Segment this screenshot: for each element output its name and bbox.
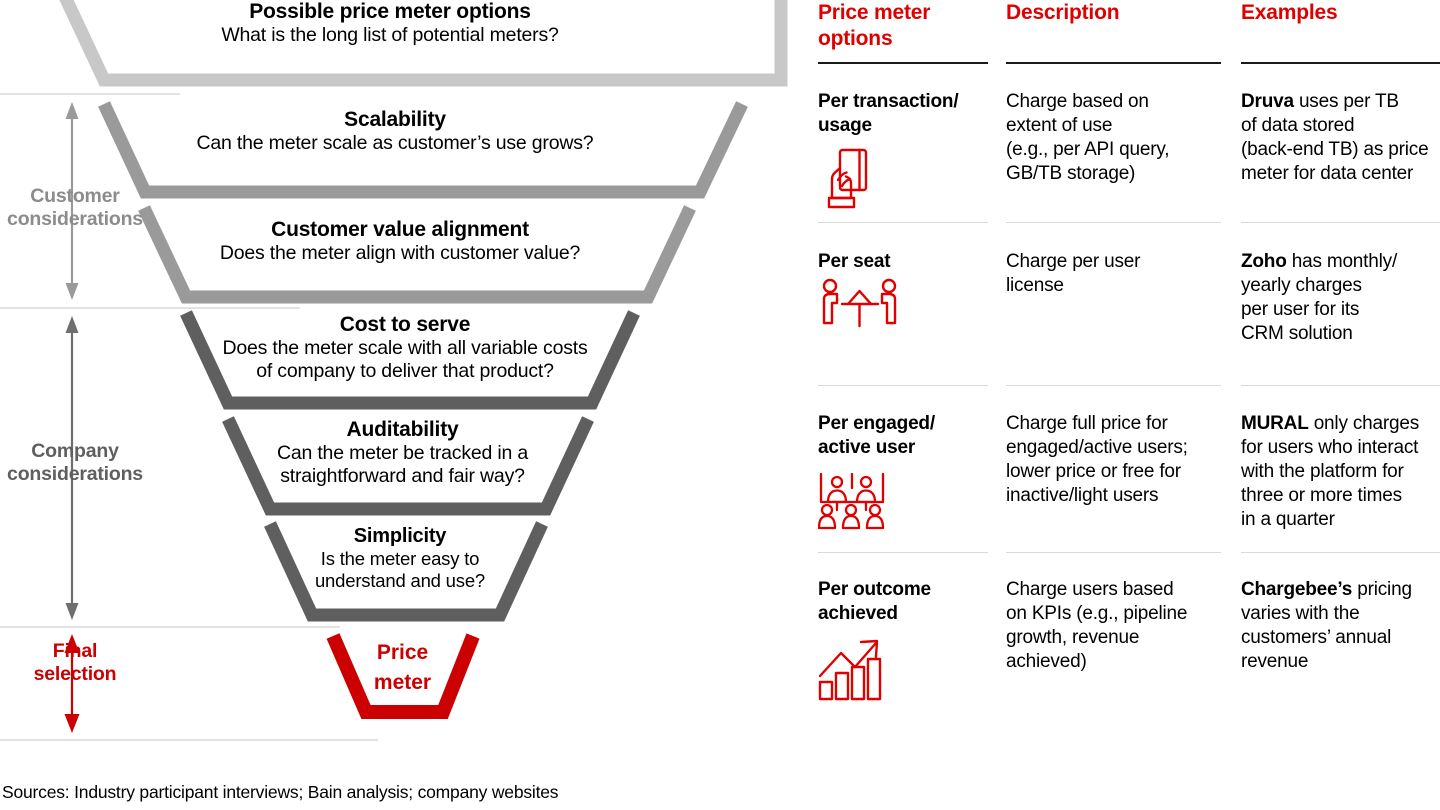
option-description: Charge based on extent of use (e.g., per… [1006, 90, 1221, 186]
hand-holding-card-icon [818, 146, 988, 212]
funnel-stage-0-subtitle: What is the long list of potential meter… [90, 24, 690, 47]
final-selection-label: Final selection [10, 640, 140, 687]
option-description: Charge per user license [1006, 250, 1221, 298]
table-column-description: Description [1006, 0, 1221, 64]
row-divider [1006, 222, 1221, 223]
row-divider [1241, 385, 1440, 386]
option-name: Per transaction/ usage [818, 90, 988, 138]
option-description: Charge full price for engaged/active use… [1006, 412, 1221, 508]
column-header-rule [818, 62, 988, 64]
funnel-stage-4-label: Auditability Can the meter be tracked in… [215, 418, 590, 488]
row-divider [818, 552, 988, 553]
funnel-stage-0-label: Possible price meter options What is the… [90, 0, 690, 47]
example-company: Druva [1241, 91, 1294, 112]
option-name: Per seat [818, 250, 988, 274]
option-example: Chargebee’s pricing varies with the cust… [1241, 578, 1440, 674]
funnel-stage-4-subtitle: Can the meter be tracked in a straightfo… [215, 442, 590, 487]
funnel-stage-3-subtitle: Does the meter scale with all variable c… [185, 337, 625, 382]
row-divider [1241, 222, 1440, 223]
table-row: Per engaged/ active user [818, 412, 988, 530]
customer-considerations-label: Customer considerations [0, 185, 150, 232]
sources-note: Sources: Industry participant interviews… [2, 782, 558, 803]
funnel-stage-2-subtitle: Does the meter align with customer value… [160, 242, 640, 265]
table-row: Charge users based on KPIs (e.g., pipeli… [1006, 578, 1226, 674]
row-divider [1006, 552, 1221, 553]
column-header-examples: Examples [1241, 0, 1440, 58]
row-divider [1241, 552, 1440, 553]
option-name: Per outcome achieved [818, 578, 988, 626]
funnel-stage-0-title: Possible price meter options [90, 0, 690, 24]
column-header-rule [1241, 62, 1440, 64]
funnel-stage-5-title: Simplicity [250, 525, 550, 548]
option-example: Druva uses per TB of data stored (back-e… [1241, 90, 1440, 186]
table-row: Charge based on extent of use (e.g., per… [1006, 90, 1221, 186]
example-company: Zoho [1241, 251, 1287, 272]
funnel-outcome-label: Price meter [330, 638, 475, 699]
funnel-stage-1-title: Scalability [130, 108, 660, 132]
option-example: Zoho has monthly/ yearly charges per use… [1241, 250, 1440, 346]
table-row: Zoho has monthly/ yearly charges per use… [1241, 250, 1440, 346]
table-row: MURAL only charges for users who interac… [1241, 412, 1440, 532]
column-header-description: Description [1006, 0, 1221, 58]
option-description: Charge users based on KPIs (e.g., pipeli… [1006, 578, 1226, 674]
two-people-at-table-icon [818, 278, 988, 332]
table-row: Per seat [818, 250, 988, 332]
option-name: Per engaged/ active user [818, 412, 988, 460]
row-divider [818, 222, 988, 223]
table-row: Charge full price for engaged/active use… [1006, 412, 1221, 508]
funnel-stage-3-title: Cost to serve [185, 313, 625, 337]
table-column-examples: Examples [1241, 0, 1440, 64]
funnel-stage-5-subtitle: Is the meter easy to understand and use? [250, 548, 550, 591]
funnel-stage-4-title: Auditability [215, 418, 590, 442]
table-row: Per transaction/ usage [818, 90, 988, 212]
row-divider [1006, 385, 1221, 386]
audience-group-icon [818, 468, 988, 530]
funnel-diagram: Possible price meter options What is the… [0, 0, 800, 810]
funnel-stage-2-title: Customer value alignment [160, 218, 640, 242]
funnel-stage-1-subtitle: Can the meter scale as customer’s use gr… [130, 132, 660, 155]
column-header-rule [1006, 62, 1221, 64]
funnel-stage-3-label: Cost to serve Does the meter scale with … [185, 313, 625, 383]
column-header-options: Price meter options [818, 0, 988, 58]
table-row: Druva uses per TB of data stored (back-e… [1241, 90, 1440, 186]
example-company: MURAL [1241, 413, 1309, 434]
table-row: Chargebee’s pricing varies with the cust… [1241, 578, 1440, 674]
table-row: Per outcome achieved [818, 578, 988, 702]
growth-bar-chart-icon [818, 636, 988, 702]
price-meter-options-table: Price meter options Description Examples… [818, 0, 1440, 810]
funnel-stage-2-label: Customer value alignment Does the meter … [160, 218, 640, 265]
table-column-options: Price meter options [818, 0, 988, 64]
funnel-stage-5-label: Simplicity Is the meter easy to understa… [250, 525, 550, 591]
example-company: Chargebee’s [1241, 579, 1352, 600]
table-row: Charge per user license [1006, 250, 1221, 298]
funnel-stage-1-label: Scalability Can the meter scale as custo… [130, 108, 660, 155]
company-considerations-label: Company considerations [0, 440, 150, 487]
row-divider [818, 385, 988, 386]
option-example: MURAL only charges for users who interac… [1241, 412, 1440, 532]
